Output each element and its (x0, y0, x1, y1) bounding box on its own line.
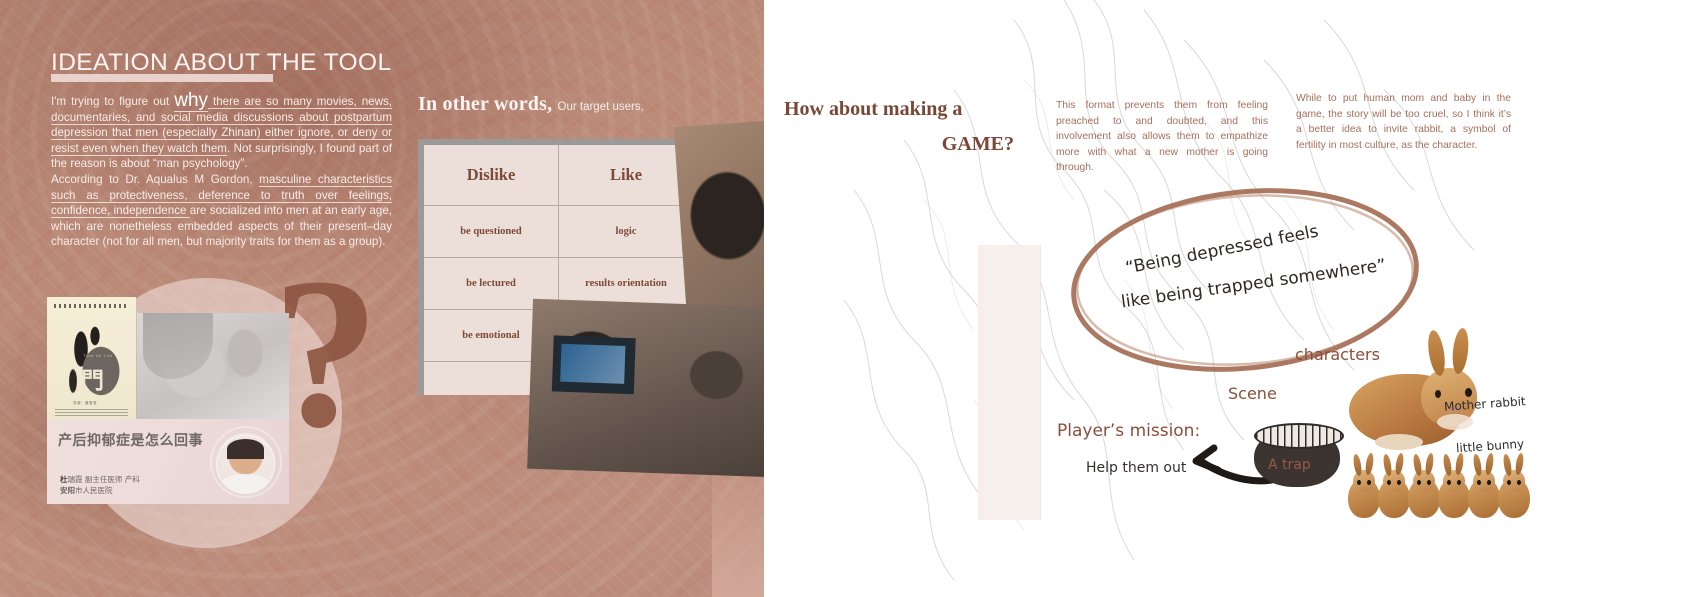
bunny-ear-left (1412, 454, 1423, 477)
trap-rim (1254, 423, 1344, 449)
poster-cn-title: 門 (81, 361, 104, 395)
poster-fineprint (55, 409, 128, 418)
bunny-eye-right (1487, 480, 1491, 485)
bunny-ear-left (1442, 454, 1453, 477)
poster-top-dots (54, 304, 129, 308)
bunny-eye-right (1457, 480, 1461, 485)
photo-monitor-2 (552, 335, 636, 394)
iow-sub: Our target users, (558, 101, 644, 113)
photo-young-woman (137, 313, 289, 419)
bunny-ear-right (1484, 453, 1494, 476)
photo-desk-setup (527, 299, 783, 478)
rabbit-ear-right (1451, 327, 1471, 374)
rabbit-eye-right (1465, 388, 1472, 397)
avatar-glasses (233, 455, 258, 462)
page-title: IDEATION ABOUT THE TOOL (51, 49, 392, 77)
bunny-ear-left (1502, 454, 1513, 477)
para2-pre: According to Dr. Aqualus M Gordon, (51, 173, 259, 186)
article-doctor-name: 杜瑞霞 副主任医师 产科 (60, 474, 140, 485)
right-text-column-1: This format prevents them from feeling p… (1056, 98, 1268, 176)
how-heading-line1: How about making a (784, 98, 962, 120)
beige-column-edge (1040, 245, 1041, 520)
in-other-words-heading: In other words, Our target users, (418, 93, 644, 116)
article-card: 产后抑郁症是怎么回事 杜瑞霞 副主任医师 产科 安阳市人民医院 (47, 419, 289, 504)
hospital-name: 市人民医院 (75, 486, 113, 495)
rabbit-chin (1437, 414, 1473, 430)
avatar-coat (221, 475, 270, 494)
right-text-column-2: While to put human mom and baby in the g… (1296, 91, 1511, 153)
bunny-eye-right (1427, 480, 1431, 485)
label-help-them-out: Help them out (1086, 460, 1186, 476)
little-bunnies-image (1346, 440, 1536, 530)
label-scene: Scene (1228, 384, 1277, 403)
movie-poster-image: Time for Life 門 导演：董雪莹 (47, 297, 136, 422)
bunny-eye-left (1357, 480, 1361, 485)
how-about-game-heading: How about making a GAME? (784, 92, 1014, 162)
iow-main: In other words, (418, 93, 552, 115)
doctor-role: 副主任医师 产科 (83, 475, 140, 484)
beige-column-block (978, 245, 1040, 520)
handwritten-quote: “Being depressed feels like being trappe… (1110, 218, 1420, 308)
bunny-eye-right (1517, 480, 1521, 485)
para1-why-emphasis: why (174, 90, 208, 112)
bunny-ear-left (1382, 454, 1393, 477)
para1-pre: I'm trying to figure out (51, 95, 174, 108)
title-underline-bar (51, 74, 273, 82)
bunny-eye-left (1447, 480, 1451, 485)
hospital-city: 安阳 (60, 486, 75, 495)
doctor-avatar (216, 435, 275, 494)
bunny-ear-right (1514, 453, 1524, 476)
bunny-ear-right (1454, 453, 1464, 476)
bunny-eye-right (1397, 480, 1401, 485)
bunny-ear-left (1352, 454, 1363, 477)
how-heading-line2: GAME? (784, 127, 1014, 162)
ideation-body-copy: I'm trying to figure out why there are s… (51, 93, 392, 250)
bunny-eye-left (1417, 480, 1421, 485)
bunny-eye-left (1477, 480, 1481, 485)
bunny-ear-right (1364, 453, 1374, 476)
bunny-ear-right (1424, 453, 1434, 476)
label-a-trap: A trap (1268, 457, 1311, 473)
bunny-eye-left (1507, 480, 1511, 485)
bunny (1496, 460, 1532, 518)
poster-latin-title: Time for Life (83, 353, 113, 358)
doctor-givenname: 瑞霞 (68, 475, 83, 484)
article-headline: 产后抑郁症是怎么回事 (58, 430, 203, 450)
bunny-ear-left (1472, 454, 1483, 477)
rabbit-eye-left (1435, 390, 1441, 398)
label-player-mission: Player’s mission: (1057, 421, 1200, 441)
article-hospital: 安阳市人民医院 (60, 485, 113, 496)
doctor-surname: 杜 (60, 475, 68, 484)
photo-hair-shape (143, 313, 213, 379)
bunny-eye-left (1387, 480, 1391, 485)
bunny-eye-right (1367, 480, 1371, 485)
poster-credit: 导演：董雪莹 (73, 401, 97, 406)
bunny-ear-right (1394, 453, 1404, 476)
slide-canvas: ? IDEATION ABOUT THE TOOL I'm trying to … (0, 0, 1684, 597)
